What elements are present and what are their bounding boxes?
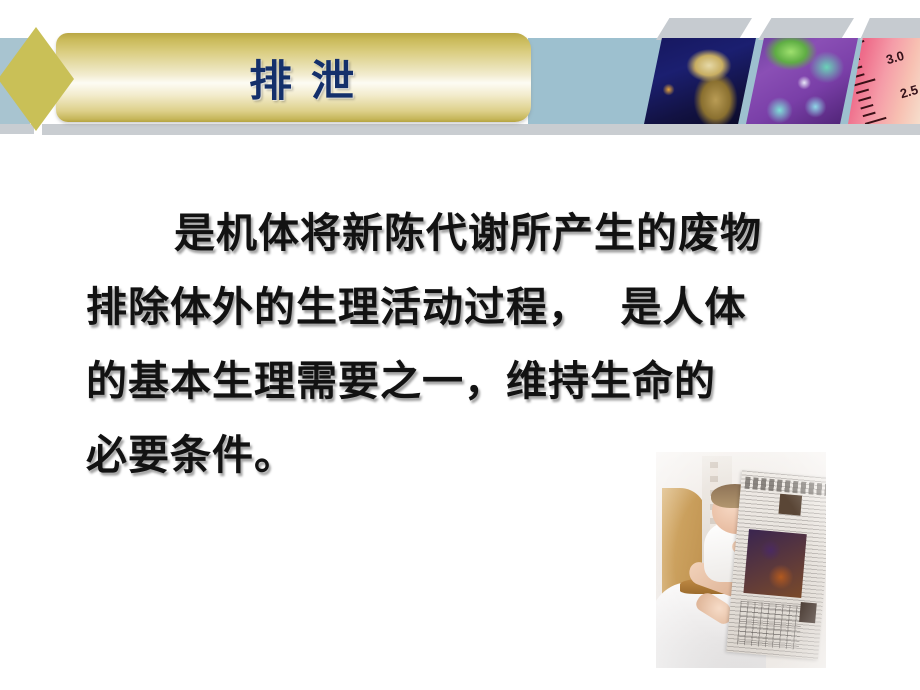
header-photo-strip: 3.0 2.5 [620, 18, 920, 136]
photo-cap-2 [758, 18, 854, 40]
slide-header: 排 泄 [0, 0, 920, 152]
lab-photo-image [746, 38, 858, 124]
photo-cap-3 [860, 18, 920, 40]
surgeon-photo [644, 38, 756, 124]
surgeon-photo-image [644, 38, 756, 124]
slide-body-text: 是机体将新陈代谢所产生的废物 排除体外的生理活动过程， 是人体 的基本生理需要之… [86, 196, 846, 492]
ruler-photo: 3.0 2.5 [848, 38, 920, 124]
slide-canvas: 排 泄 [0, 0, 920, 690]
baby-on-toilet-photo [656, 452, 826, 668]
lab-photo [746, 38, 858, 124]
body-line-2: 排除体外的生理活动过程， 是人体 [86, 270, 846, 344]
photo-vignette [656, 452, 826, 668]
body-line-3: 的基本生理需要之一，维持生命的 [86, 344, 846, 418]
left-grey-accent-bar [0, 124, 34, 134]
page-title: 排 泄 [56, 33, 531, 122]
photo-cap-1 [656, 18, 752, 40]
body-line-1: 是机体将新陈代谢所产生的废物 [86, 196, 846, 270]
